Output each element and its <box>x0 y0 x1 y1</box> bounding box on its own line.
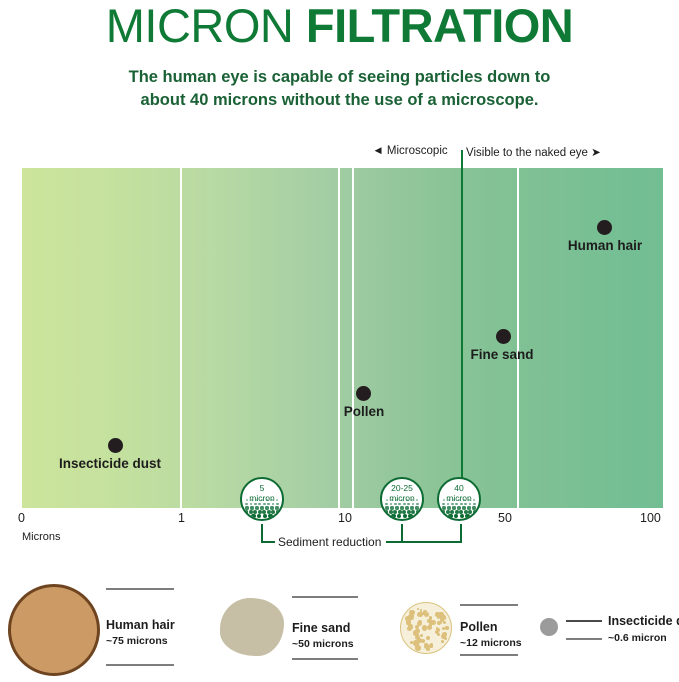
legend-rule-top-pollen <box>460 604 518 606</box>
bracket-stem-40 <box>460 524 462 542</box>
data-label-fine-sand: Fine sand <box>442 347 562 362</box>
pollen-circle-icon <box>400 602 452 654</box>
data-label-human-hair: Human hair <box>540 238 670 253</box>
legend-name-pollen: Pollen <box>460 620 498 634</box>
axis-tick-1: 1 <box>178 511 185 525</box>
badge-20-25-dot-pattern <box>382 499 422 519</box>
visible-threshold-divider <box>461 150 463 508</box>
sand-blob-icon <box>220 598 284 656</box>
legend-size-human-hair: ~75 microns <box>106 635 168 647</box>
axis-tick-50: 50 <box>498 511 512 525</box>
axis-tick-0: 0 <box>18 511 25 525</box>
legend-rule-bottom-hair <box>106 664 174 666</box>
legend-item-pollen: Pollen ~12 microns <box>400 566 550 682</box>
data-label-pollen: Pollen <box>314 404 414 419</box>
legend-item-fine-sand: Fine sand ~50 microns <box>220 566 380 682</box>
gridline-50 <box>517 168 519 508</box>
hair-circle-icon <box>8 584 100 676</box>
legend-item-insecticide-dust: Insecticide dust ~0.6 micron <box>540 566 679 682</box>
axis-tick-100: 100 <box>640 511 661 525</box>
subtitle-line-1: The human eye is capable of seeing parti… <box>0 66 679 89</box>
badge-5-dot-pattern <box>242 499 282 519</box>
badge-20-25-value: 20-25 <box>391 483 413 493</box>
legend-rule-top-hair <box>106 588 174 590</box>
data-point-human-hair <box>597 220 612 235</box>
visible-to-naked-eye-label: Visible to the naked eye ➤ <box>466 145 666 159</box>
data-label-insecticide-dust: Insecticide dust <box>25 456 195 471</box>
legend-rule-top-sand <box>292 596 358 598</box>
band-labels: ◄ Microscopic Visible to the naked eye ➤ <box>0 145 679 165</box>
badge-5-value: 5 <box>260 483 265 493</box>
legend-size-fine-sand: ~50 microns <box>292 638 354 650</box>
filter-badge-5-micron: 5 micron <box>240 477 284 521</box>
dust-dot-icon <box>540 618 558 636</box>
data-point-pollen <box>356 386 371 401</box>
legend-rule-bottom-dust <box>566 638 602 640</box>
filter-badge-20-25-micron: 20-25 micron <box>380 477 424 521</box>
legend-name-human-hair: Human hair <box>106 618 175 632</box>
micron-scale-chart: Insecticide dust Pollen Fine sand Human … <box>22 168 663 508</box>
filter-badge-40-micron: 40 micron <box>437 477 481 521</box>
axis-unit-label: Microns <box>22 531 61 543</box>
legend-rule-bottom-sand <box>292 658 358 660</box>
microscopic-label: ◄ Microscopic <box>360 145 460 157</box>
legend-rule-top-dust <box>566 620 602 622</box>
data-point-insecticide-dust <box>108 438 123 453</box>
gridline-10-left <box>338 168 340 508</box>
bracket-arm-right <box>386 541 462 543</box>
legend-item-human-hair: Human hair ~75 microns <box>0 566 180 682</box>
legend-rule-bottom-pollen <box>460 654 518 656</box>
bracket-stem-20-25 <box>401 524 403 542</box>
page-title: MICRON FILTRATION <box>0 0 679 54</box>
bracket-arm-left <box>261 541 275 543</box>
bracket-stem-5 <box>261 524 263 542</box>
subtitle: The human eye is capable of seeing parti… <box>0 66 679 112</box>
badge-40-dot-pattern <box>439 499 479 519</box>
particle-size-legend: Human hair ~75 microns Fine sand ~50 mic… <box>0 566 679 682</box>
legend-name-insecticide-dust: Insecticide dust <box>608 614 679 628</box>
legend-size-insecticide-dust: ~0.6 micron <box>608 632 667 644</box>
gridline-10-right <box>352 168 354 508</box>
sediment-reduction-label: Sediment reduction <box>278 535 381 549</box>
axis-tick-10: 10 <box>338 511 352 525</box>
title-bold-part: FILTRATION <box>306 0 573 52</box>
data-point-fine-sand <box>496 329 511 344</box>
legend-name-fine-sand: Fine sand <box>292 621 350 635</box>
badge-40-value: 40 <box>454 483 463 493</box>
title-light-part: MICRON <box>106 0 306 52</box>
subtitle-line-2: about 40 microns without the use of a mi… <box>0 89 679 112</box>
legend-size-pollen: ~12 microns <box>460 637 522 649</box>
infographic-root: MICRON FILTRATION The human eye is capab… <box>0 0 679 682</box>
